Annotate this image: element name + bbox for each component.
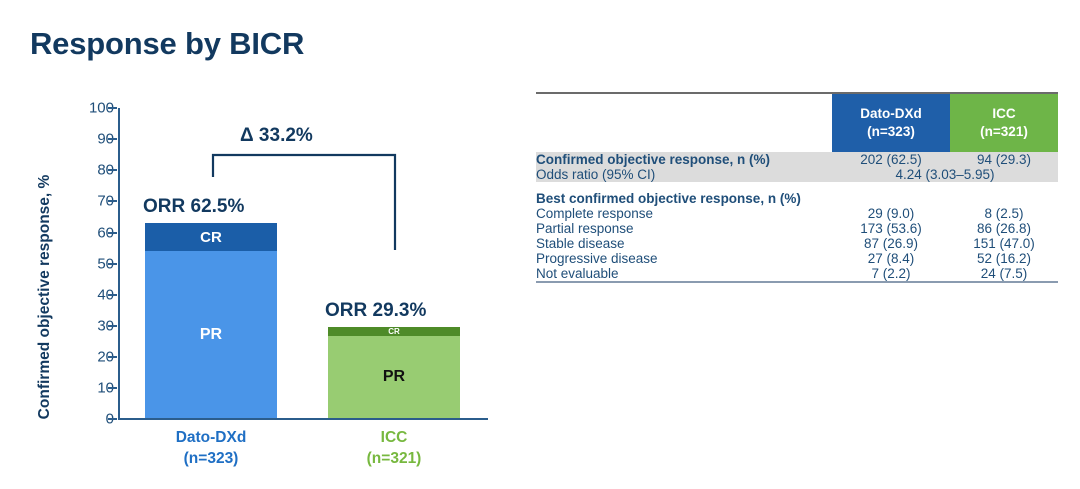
row-value-icc [950,182,1058,206]
x-axis-label-icc: ICC (n=321) [304,428,484,470]
orr-annotation-icc: ORR 29.3% [325,300,426,322]
header-cell-icc: ICC (n=321) [950,94,1058,152]
table-row[interactable]: Not evaluable 7 (2.2) 24 (7.5) [536,266,1058,281]
bar-segment-label-cr: CR [200,229,222,246]
row-value-icc: 94 (29.3) [950,152,1058,167]
y-tickmark-30 [108,325,117,327]
y-tickmark-10 [108,387,117,389]
row-value-dato-dxd: 29 (9.0) [832,206,950,221]
table-row[interactable]: Partial response 173 (53.6) 86 (26.8) [536,221,1058,236]
y-tickmark-70 [108,200,117,202]
row-value-dato-dxd: 173 (53.6) [832,221,950,236]
row-value-icc: 8 (2.5) [950,206,1058,221]
bar-segment-pr-icc[interactable]: PR [328,336,460,418]
table-bottom-rule [536,281,1058,283]
bar-dato-dxd[interactable]: CR PR [145,223,277,418]
delta-annotation: Δ 33.2% [240,125,313,147]
row-value-icc: 52 (16.2) [950,251,1058,266]
y-tickmark-40 [108,294,117,296]
x-axis-label-dato-dxd: Dato-DXd (n=323) [121,428,301,470]
plot-area: 100 90 80 70 60 50 40 30 20 10 0 CR [0,92,520,489]
x-label-name: Dato-DXd [176,429,247,446]
x-label-n: (n=321) [367,450,422,467]
row-value-odds-ratio: 4.24 (3.03–5.95) [832,167,1058,182]
table-header-row: Dato-DXd (n=323) ICC (n=321) [536,94,1058,152]
header-cell-dato-dxd: Dato-DXd (n=323) [832,94,950,152]
x-label-name: ICC [381,429,408,446]
header-n: (n=323) [867,124,915,139]
row-label: Stable disease [536,236,832,251]
row-value-icc: 24 (7.5) [950,266,1058,281]
orr-annotation-dato-dxd: ORR 62.5% [143,196,244,218]
row-value-dato-dxd [832,182,950,206]
y-axis-line [118,108,120,420]
table-row[interactable]: Best confirmed objective response, n (%) [536,182,1058,206]
table-row[interactable]: Confirmed objective response, n (%) 202 … [536,152,1058,167]
row-label: Not evaluable [536,266,832,281]
row-label: Best confirmed objective response, n (%) [536,182,832,206]
bar-segment-label-pr: PR [200,326,222,344]
table-row[interactable]: Odds ratio (95% CI) 4.24 (3.03–5.95) [536,167,1058,182]
header-name: ICC [992,106,1015,121]
header-blank-cell [536,94,832,152]
bar-segment-cr-dato-dxd[interactable]: CR [145,223,277,251]
row-value-dato-dxd: 202 (62.5) [832,152,950,167]
y-tickmark-50 [108,263,117,265]
y-tickmark-60 [108,232,117,234]
row-value-icc: 86 (26.8) [950,221,1058,236]
header-name: Dato-DXd [860,106,922,121]
response-bar-chart: Confirmed objective response, % 100 90 8… [0,92,520,489]
bar-segment-label-pr: PR [383,368,405,386]
row-label: Partial response [536,221,832,236]
row-label: Odds ratio (95% CI) [536,167,832,182]
row-value-dato-dxd: 7 (2.2) [832,266,950,281]
table-row[interactable]: Complete response 29 (9.0) 8 (2.5) [536,206,1058,221]
y-tickmark-100 [108,107,117,109]
bar-segment-label-cr: CR [388,327,400,336]
response-table-panel: Dato-DXd (n=323) ICC (n=321) Confirmed o… [536,92,1058,283]
row-label: Complete response [536,206,832,221]
y-tickmark-20 [108,356,117,358]
bar-segment-cr-icc[interactable]: CR [328,327,460,336]
x-label-n: (n=323) [184,450,239,467]
y-tickmark-0 [108,418,117,420]
table-row[interactable]: Stable disease 87 (26.9) 151 (47.0) [536,236,1058,251]
row-value-icc: 151 (47.0) [950,236,1058,251]
table-row[interactable]: Progressive disease 27 (8.4) 52 (16.2) [536,251,1058,266]
header-n: (n=321) [980,124,1028,139]
y-tickmark-90 [108,138,117,140]
page-title: Response by BICR [30,26,304,62]
y-tickmark-80 [108,169,117,171]
row-value-dato-dxd: 87 (26.9) [832,236,950,251]
bar-segment-pr-dato-dxd[interactable]: PR [145,251,277,418]
response-table: Dato-DXd (n=323) ICC (n=321) Confirmed o… [536,92,1058,283]
bar-icc[interactable]: CR PR [328,327,460,418]
row-label: Progressive disease [536,251,832,266]
row-value-dato-dxd: 27 (8.4) [832,251,950,266]
x-axis-line [118,418,488,420]
row-label: Confirmed objective response, n (%) [536,152,832,167]
